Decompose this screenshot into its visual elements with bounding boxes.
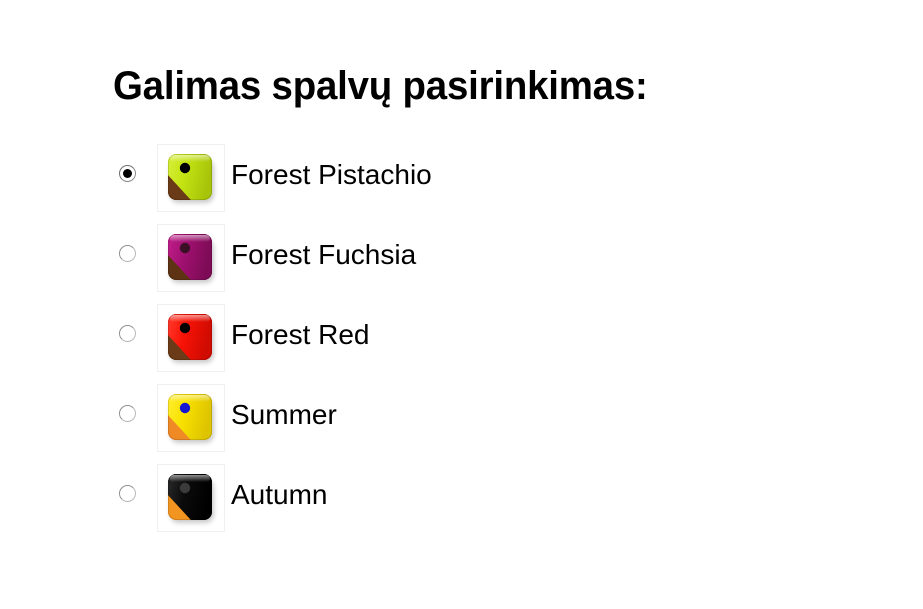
color-swatch-forest-red-cell[interactable] (157, 304, 225, 372)
color-swatch-wrap (166, 151, 216, 205)
radio-forest-red[interactable] (119, 325, 136, 342)
color-swatch-wrap (166, 391, 216, 445)
label-forest-red: Forest Red (231, 318, 370, 352)
radio-autumn[interactable] (119, 485, 136, 502)
page-root: Galimas spalvų pasirinkimas: (0, 0, 923, 609)
color-swatch-wrap (166, 311, 216, 365)
radio-summer[interactable] (119, 405, 136, 422)
color-swatch-wrap (166, 471, 216, 525)
color-radio-group: Forest Pistachio (0, 138, 923, 538)
color-option-forest-fuchsia[interactable]: Forest Fuchsia (0, 218, 923, 298)
label-forest-pistachio: Forest Pistachio (231, 158, 432, 192)
color-option-forest-pistachio[interactable]: Forest Pistachio (0, 138, 923, 218)
radio-forest-pistachio[interactable] (119, 165, 136, 182)
color-swatch-forest-fuchsia-cell[interactable] (157, 224, 225, 292)
color-swatch-forest-pistachio (168, 154, 212, 200)
color-option-autumn[interactable]: Autumn (0, 458, 923, 538)
color-swatch-autumn-cell[interactable] (157, 464, 225, 532)
label-forest-fuchsia: Forest Fuchsia (231, 238, 416, 272)
color-swatch-forest-pistachio-cell[interactable] (157, 144, 225, 212)
color-option-forest-red[interactable]: Forest Red (0, 298, 923, 378)
page-title: Galimas spalvų pasirinkimas: (113, 62, 648, 110)
color-swatch-wrap (166, 231, 216, 285)
color-option-summer[interactable]: Summer (0, 378, 923, 458)
color-swatch-summer-cell[interactable] (157, 384, 225, 452)
color-swatch-forest-fuchsia (168, 234, 212, 280)
label-summer: Summer (231, 398, 337, 432)
color-swatch-forest-red (168, 314, 212, 360)
color-swatch-autumn (168, 474, 212, 520)
label-autumn: Autumn (231, 478, 328, 512)
color-swatch-summer (168, 394, 212, 440)
radio-forest-fuchsia[interactable] (119, 245, 136, 262)
